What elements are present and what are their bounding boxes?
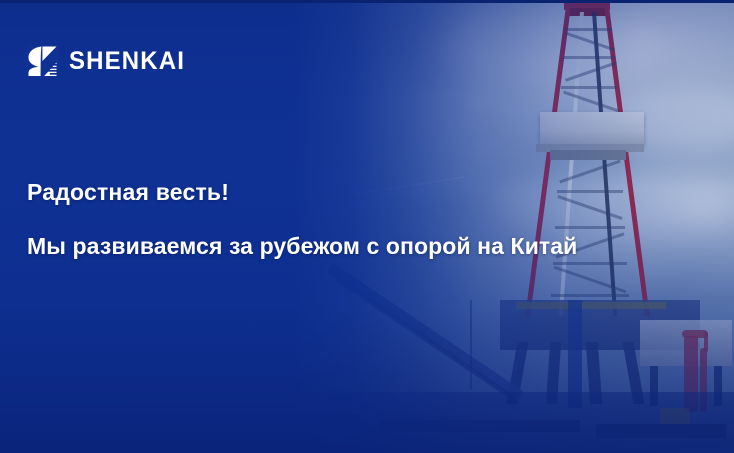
brand-logo[interactable]: SHENKAI	[26, 45, 190, 78]
headline-line-2: Мы развиваемся за рубежом с опорой на Ки…	[27, 232, 717, 261]
promo-banner: SHENKAI Радостная весть! Мы развиваемся …	[0, 0, 734, 453]
headline-block: Радостная весть! Мы развиваемся за рубеж…	[27, 178, 717, 262]
headline-line-1: Радостная весть!	[27, 178, 717, 207]
brand-wordmark: SHENKAI	[69, 49, 185, 74]
banner-content: SHENKAI Радостная весть! Мы развиваемся …	[0, 0, 734, 453]
shenkai-logo-mark-icon	[26, 45, 59, 78]
